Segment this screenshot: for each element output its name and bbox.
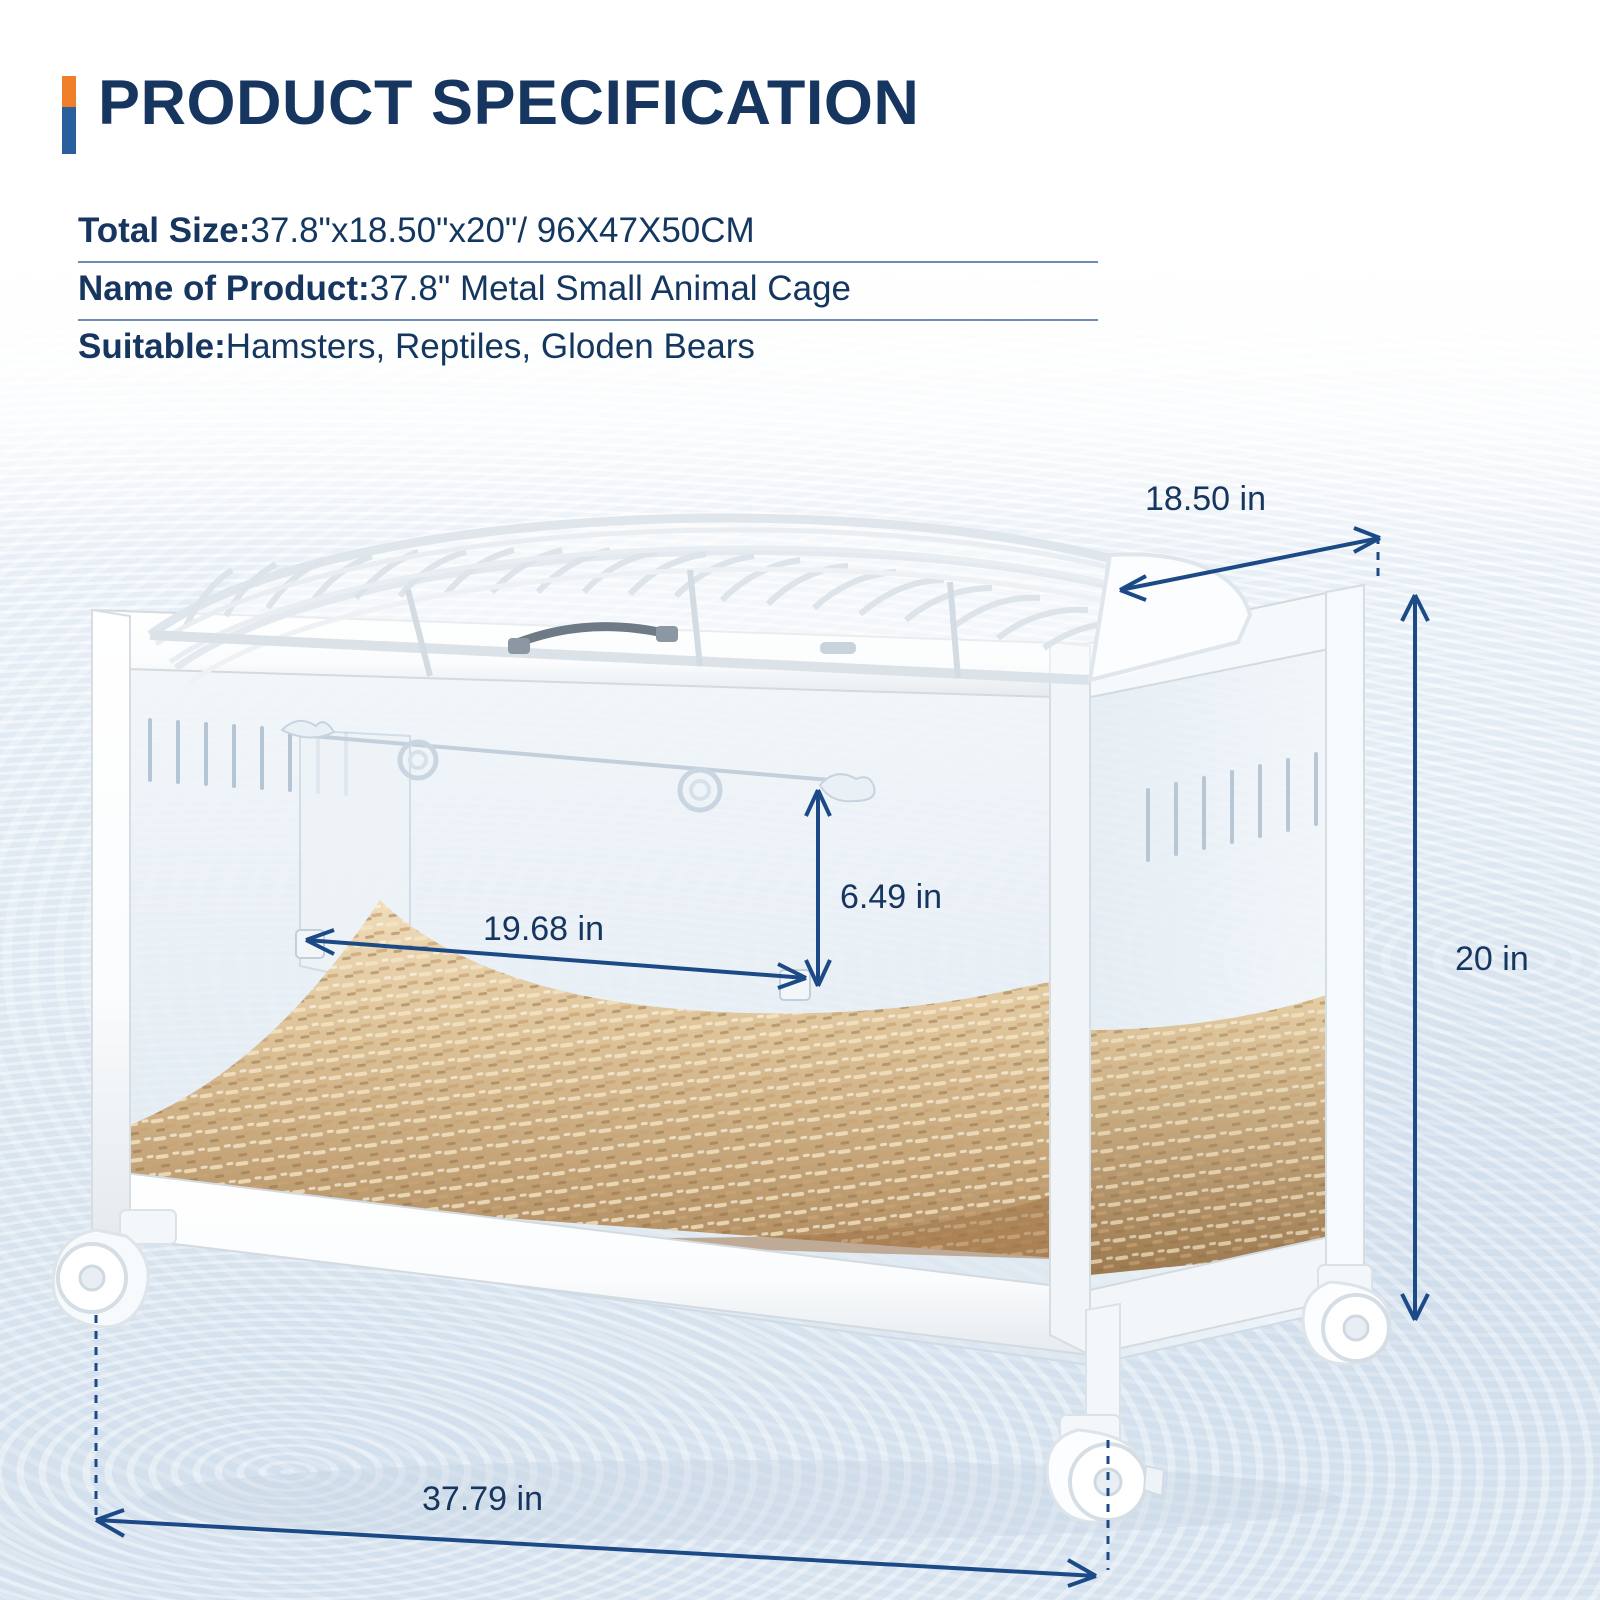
product-specification-page: PRODUCT SPECIFICATION Total Size: 37.8"x…	[0, 0, 1600, 1600]
spec-value-total-size: 37.8"x18.50"x20"/ 96X47X50CM	[250, 211, 754, 251]
product-illustration	[0, 430, 1600, 1600]
spec-row-total-size: Total Size: 37.8"x18.50"x20"/ 96X47X50CM	[78, 205, 1098, 261]
dimension-label-width: 37.79 in	[422, 1480, 543, 1519]
spec-value-suitable: Hamsters, Reptiles, Gloden Bears	[226, 327, 755, 367]
spec-row-suitable: Suitable: Hamsters, Reptiles, Gloden Bea…	[78, 319, 1098, 377]
spec-label-suitable: Suitable:	[78, 327, 226, 367]
page-title: PRODUCT SPECIFICATION	[98, 72, 919, 154]
specification-list: Total Size: 37.8"x18.50"x20"/ 96X47X50CM…	[78, 205, 1098, 377]
dimension-label-depth: 18.50 in	[1145, 480, 1266, 519]
dimension-label-height: 20 in	[1455, 940, 1529, 979]
accent-bar-blue	[62, 107, 76, 154]
dimension-label-inner-width: 19.68 in	[483, 910, 604, 949]
title-accent-bars	[62, 76, 76, 154]
spec-row-product-name: Name of Product: 37.8" Metal Small Anima…	[78, 261, 1098, 319]
spec-label-total-size: Total Size:	[78, 211, 250, 251]
dimension-label-inner-height: 6.49 in	[840, 878, 942, 917]
spec-label-product-name: Name of Product:	[78, 269, 370, 309]
accent-bar-orange	[62, 76, 76, 107]
spec-value-product-name: 37.8" Metal Small Animal Cage	[370, 269, 851, 309]
page-header: PRODUCT SPECIFICATION	[62, 72, 919, 154]
